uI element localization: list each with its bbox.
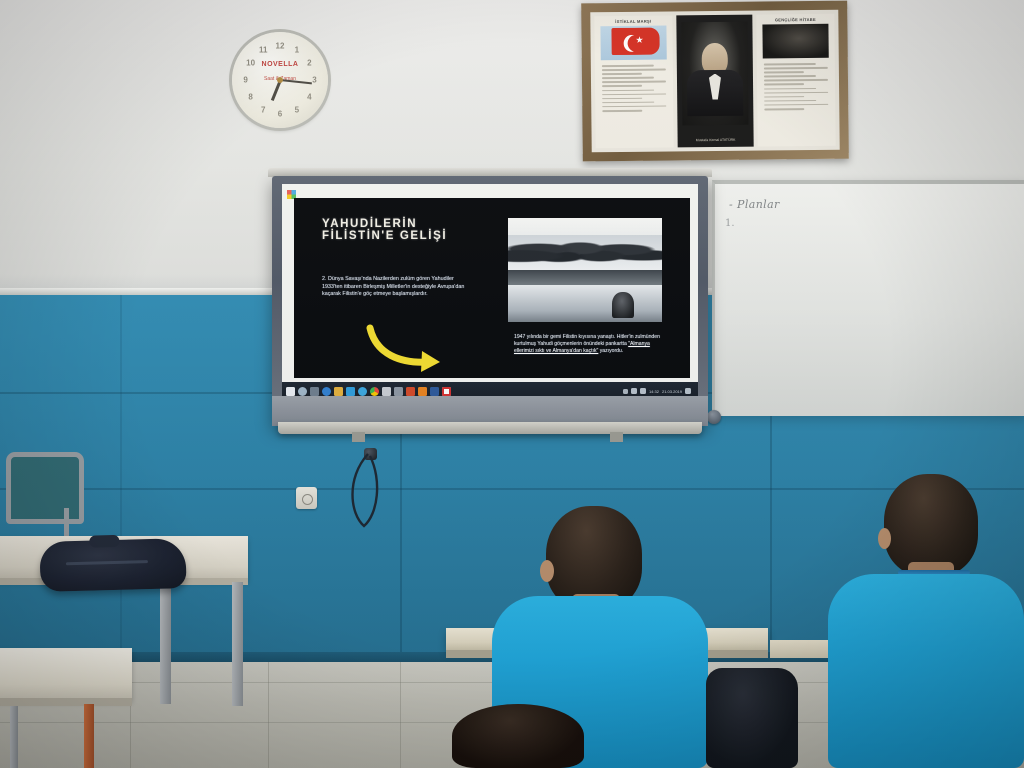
slide-body-text: 2. Dünya Savaşı'nda Nazilerden zulüm gör… — [322, 276, 474, 299]
pdf-reader-icon[interactable] — [442, 387, 451, 396]
network-icon[interactable] — [631, 388, 637, 394]
smartboard-bracket-right — [610, 432, 623, 442]
clock-brand: NOVELLA — [232, 61, 328, 68]
internet-explorer-icon[interactable] — [358, 387, 367, 396]
istiklal-marsi-panel: İSTİKLAL MARŞI — [594, 15, 673, 148]
vlc-icon[interactable] — [418, 387, 427, 396]
classroom-photo: 12 1 2 3 4 5 6 7 8 9 10 11 NOVELLA Saat … — [0, 0, 1024, 768]
student-right-torso — [828, 574, 1024, 768]
volume-icon[interactable] — [640, 388, 646, 394]
notifications-icon[interactable] — [685, 388, 691, 394]
system-tray[interactable]: 14:32 21.03.2019 — [623, 388, 694, 394]
student-right-ear — [878, 528, 891, 549]
classroom-chair[interactable] — [6, 452, 78, 548]
start-button-icon[interactable] — [286, 387, 295, 396]
wall-socket — [296, 487, 317, 509]
hitabe-photo — [762, 24, 828, 59]
whiteboard-handwriting-line1: - Planlar — [729, 198, 780, 211]
hitabe-text-lines — [757, 58, 836, 118]
turkish-flag-icon — [600, 26, 666, 61]
whiteboard-mount-knob — [707, 410, 721, 424]
file-explorer-icon[interactable] — [334, 387, 343, 396]
presentation-slide[interactable]: YAHUDİLERİN FİLİSTİN'E GELİŞİ 2. Dünya S… — [294, 198, 690, 378]
slide-historical-photo — [508, 218, 662, 322]
wall-frame-ataturk-panel: İSTİKLAL MARŞI Mustafa Kemal ATATÜRK GEN… — [581, 1, 849, 162]
student-foreground-head — [452, 704, 584, 768]
chrome-icon[interactable] — [370, 387, 379, 396]
genclige-hitabe-panel: GENÇLİĞE HİTABE — [756, 14, 835, 147]
taskbar-date[interactable]: 21.03.2019 — [662, 389, 682, 394]
ataturk-portrait: Mustafa Kemal ATATÜRK — [676, 15, 753, 148]
hanging-cable — [330, 452, 400, 530]
caption-part-2: yazıyordu. — [598, 348, 623, 354]
powerpoint-icon[interactable] — [406, 387, 415, 396]
backpack-on-floor[interactable] — [706, 668, 798, 768]
show-hidden-icons-icon[interactable] — [623, 389, 628, 394]
yellow-arrow-icon — [366, 324, 452, 372]
clock-center-pin — [277, 77, 283, 83]
smartboard-screen[interactable]: YAHUDİLERİN FİLİSTİN'E GELİŞİ 2. Dünya S… — [282, 184, 698, 400]
desktop[interactable]: YAHUDİLERİN FİLİSTİN'E GELİŞİ 2. Dünya S… — [282, 184, 698, 400]
search-icon[interactable] — [298, 387, 307, 396]
whiteboard-handwriting-line2: 1. — [725, 218, 735, 229]
store-icon[interactable] — [346, 387, 355, 396]
portrait-caption: Mustafa Kemal ATATÜRK — [678, 138, 754, 143]
wall-clock: 12 1 2 3 4 5 6 7 8 9 10 11 NOVELLA Saat … — [232, 32, 328, 128]
whiteboard[interactable]: - Planlar 1. — [712, 180, 1024, 416]
task-view-icon[interactable] — [310, 387, 319, 396]
media-player-icon[interactable] — [394, 387, 403, 396]
edge-browser-icon[interactable] — [322, 387, 331, 396]
smartboard-pen-tray[interactable] — [278, 422, 702, 434]
student-left-ear — [540, 560, 554, 582]
anthem-text-lines — [595, 59, 674, 119]
smartboard-bracket-left — [352, 432, 365, 442]
slide-caption: 1947 yılında bir gemi Filistin kıyısına … — [514, 334, 668, 356]
taskbar-clock[interactable]: 14:32 — [649, 389, 659, 394]
slide-title: YAHUDİLERİN FİLİSTİN'E GELİŞİ — [322, 218, 472, 242]
smartboard[interactable]: YAHUDİLERİN FİLİSTİN'E GELİŞİ 2. Dünya S… — [272, 176, 708, 426]
backpack-on-desk[interactable] — [39, 538, 186, 592]
student-right-head — [884, 474, 978, 576]
word-icon[interactable] — [430, 387, 439, 396]
paint-icon[interactable] — [382, 387, 391, 396]
